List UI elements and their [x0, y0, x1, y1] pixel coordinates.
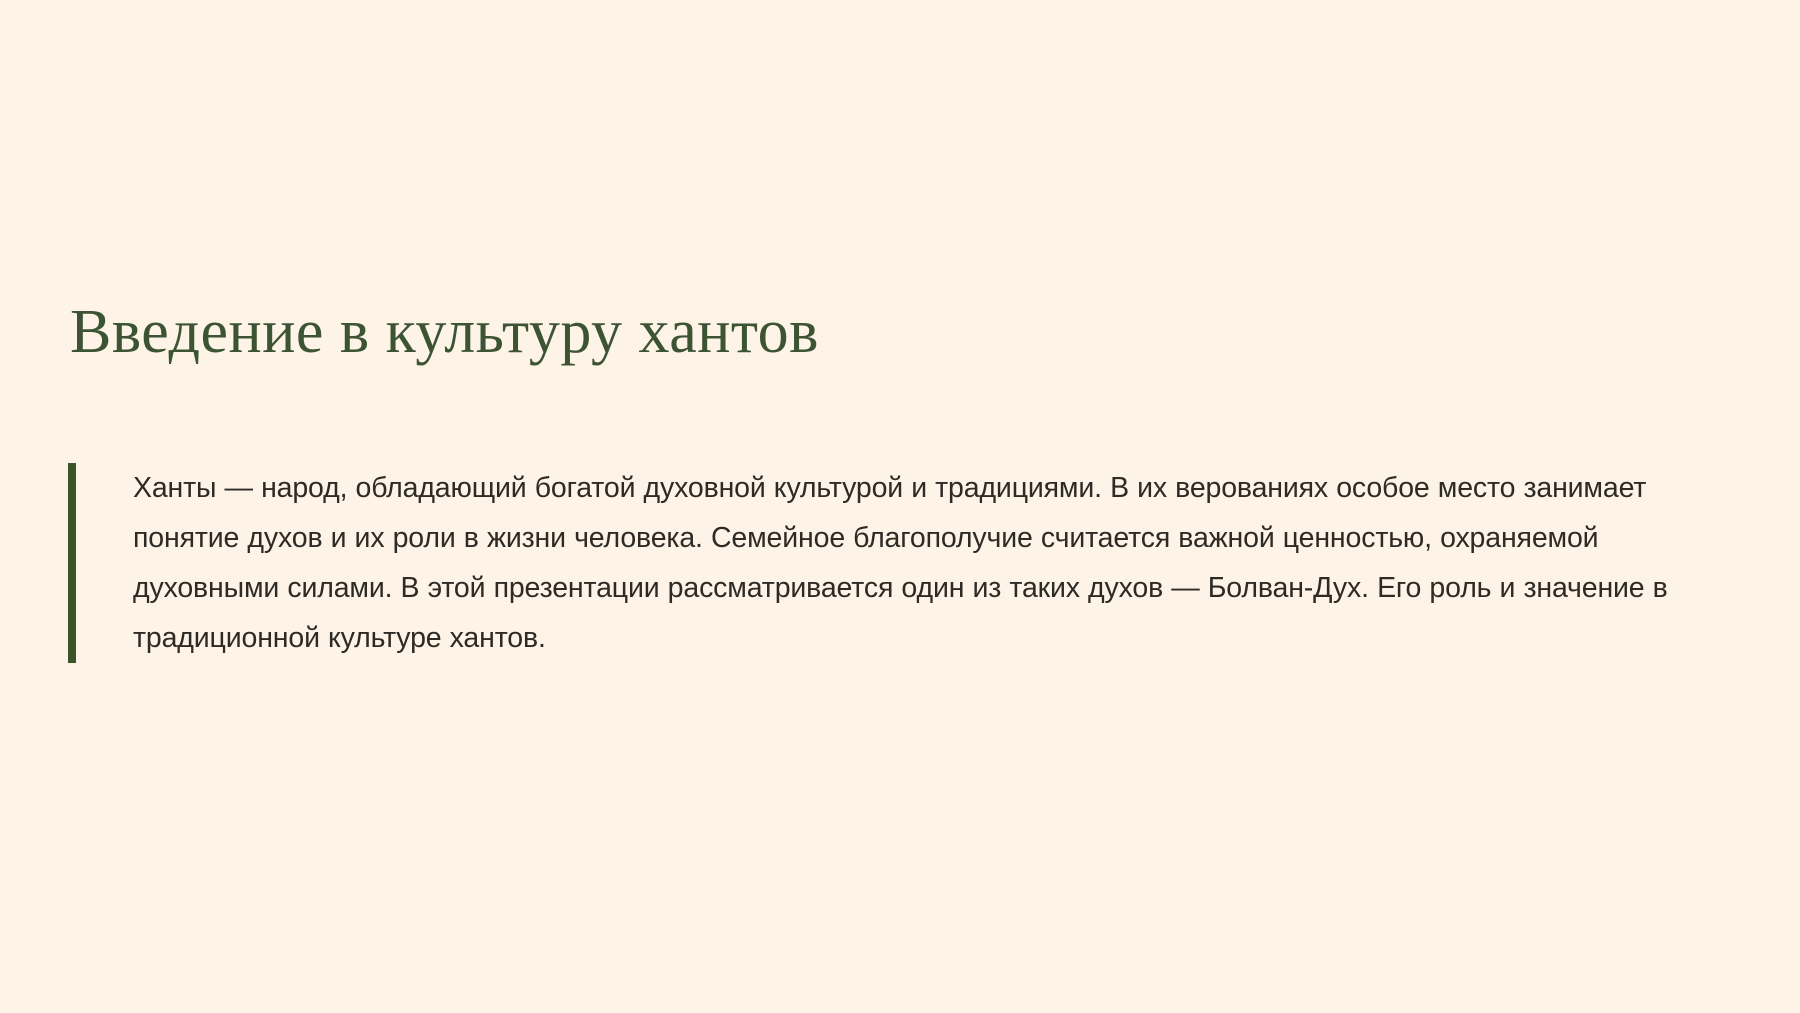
intro-text-block: Ханты — народ, обладающий богатой духовн…	[68, 463, 1668, 663]
intro-paragraph: Ханты — народ, обладающий богатой духовн…	[76, 463, 1668, 663]
slide-title: Введение в культуру хантов	[70, 298, 1610, 367]
presentation-slide: Введение в культуру хантов Ханты — народ…	[0, 0, 1800, 1013]
accent-bar	[68, 463, 76, 663]
